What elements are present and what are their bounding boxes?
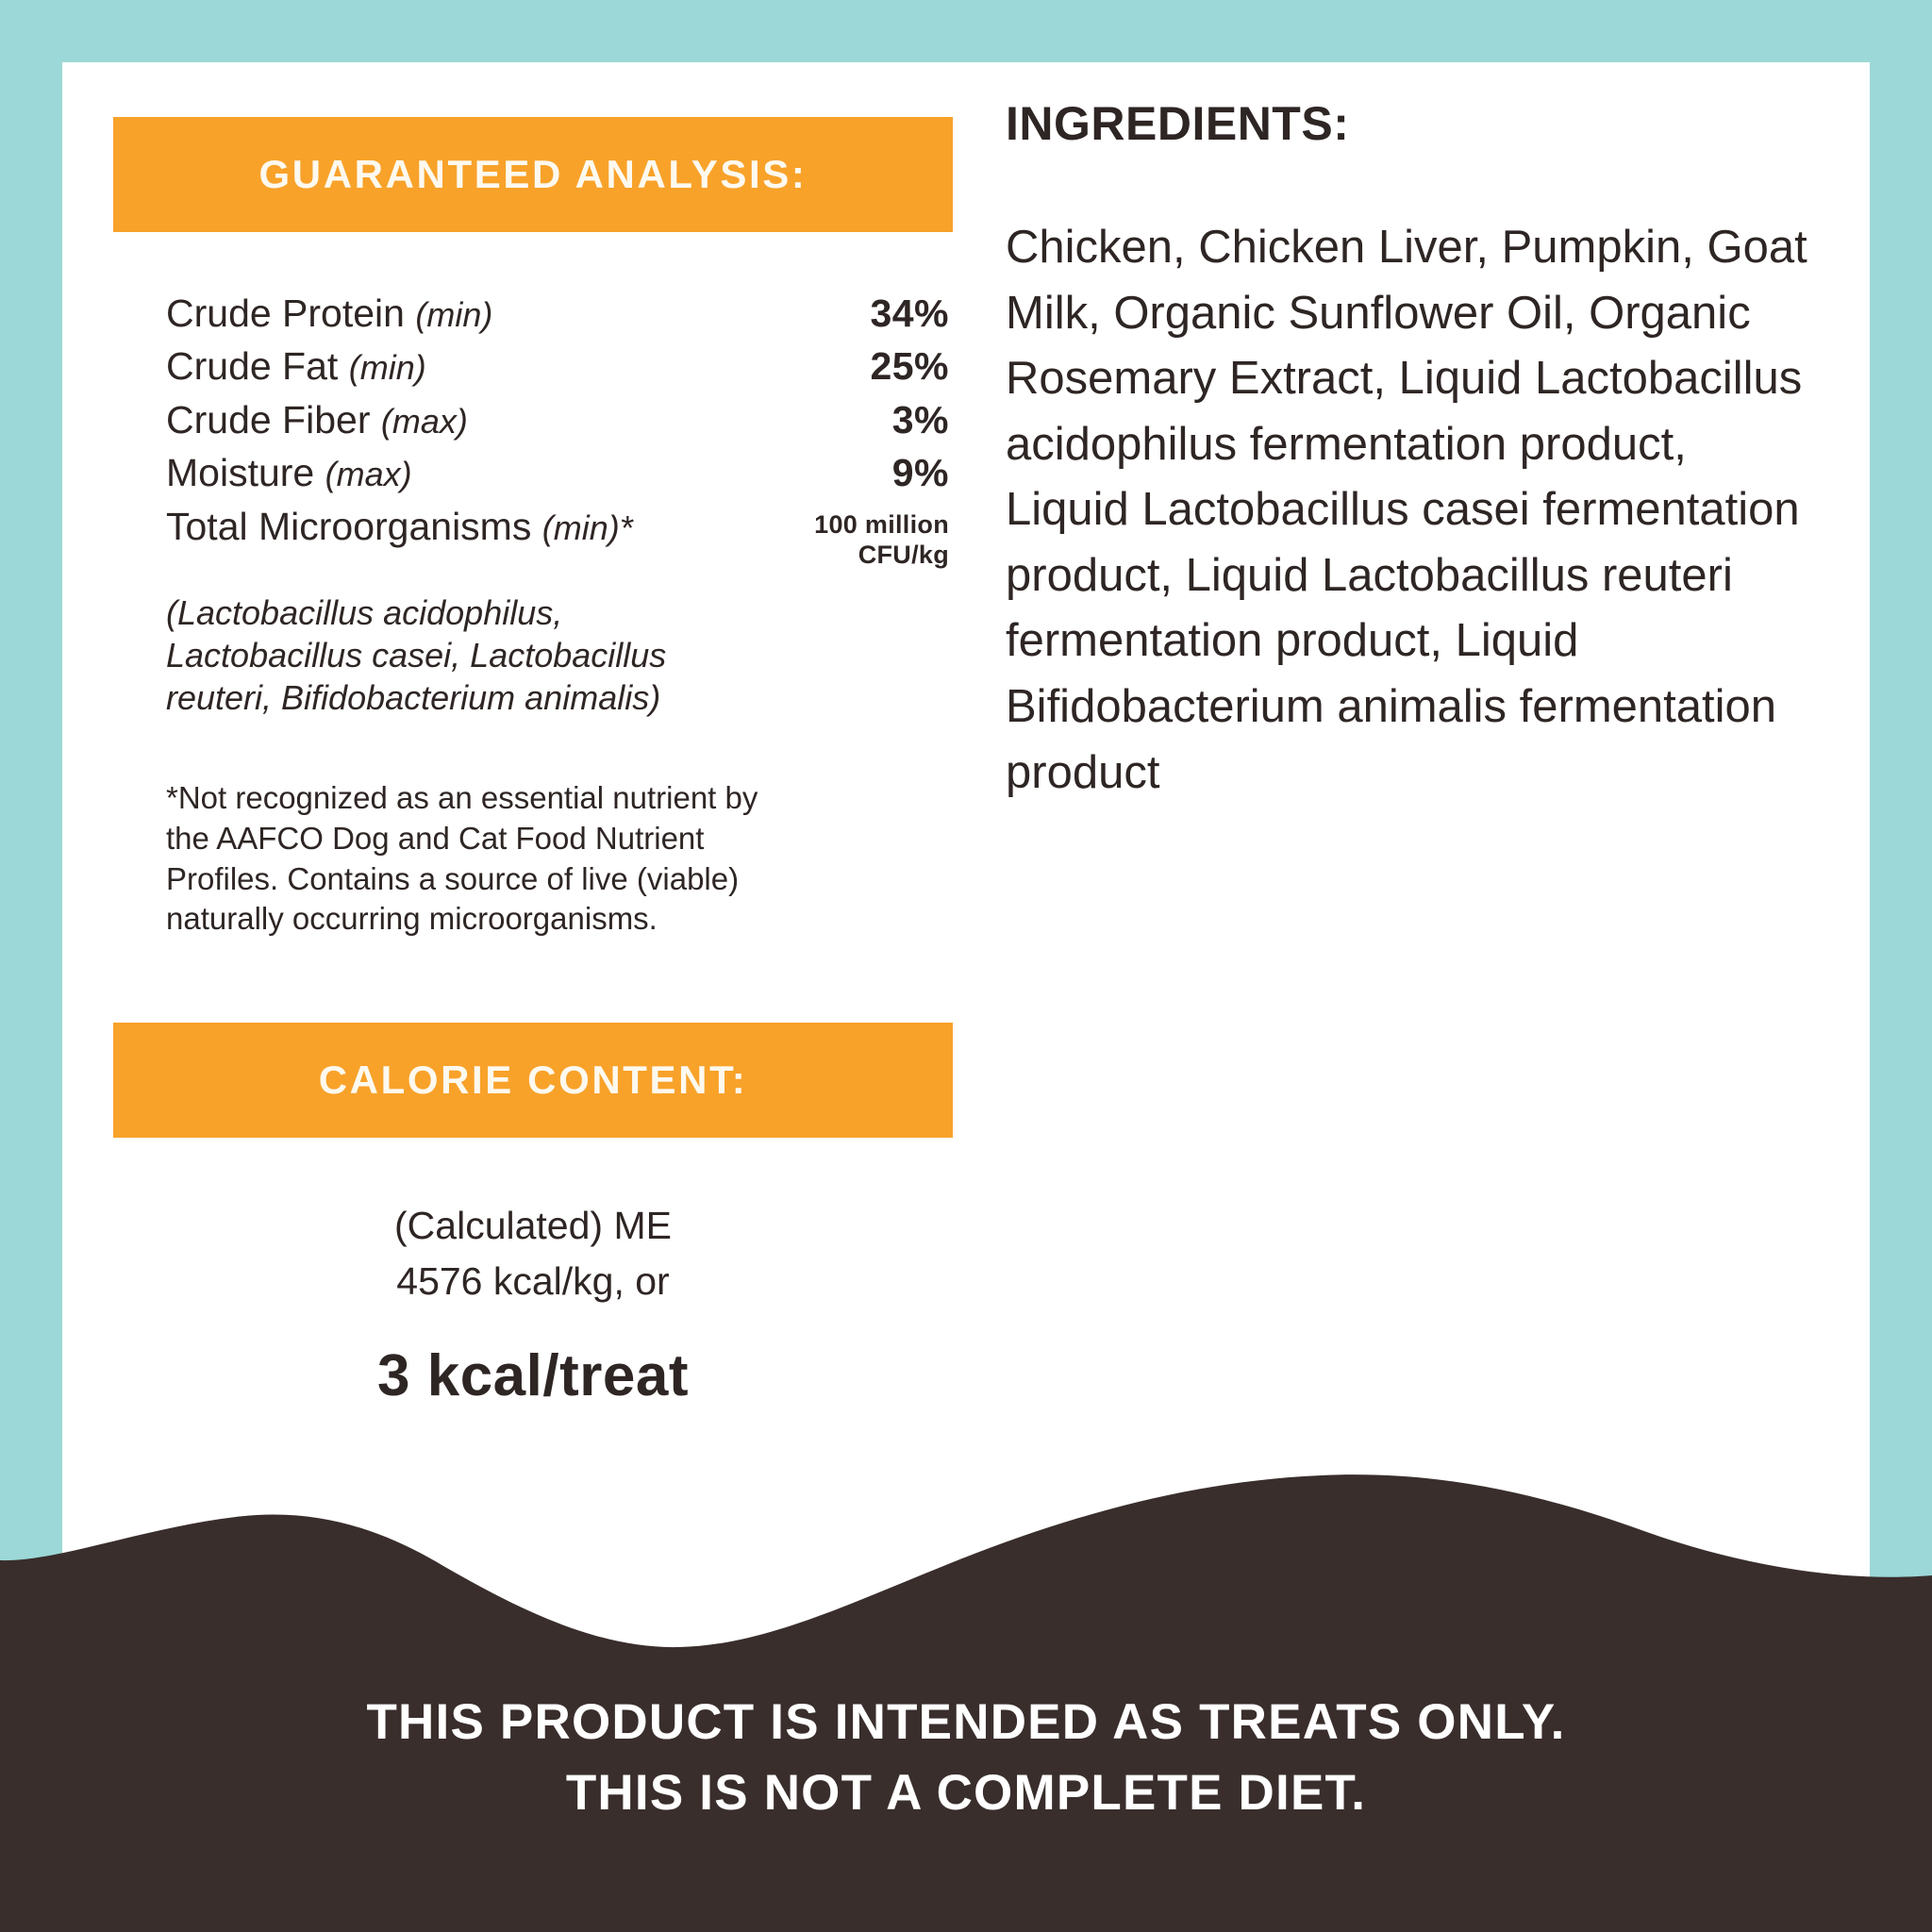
- nutrient-label: Crude Fiber (max): [166, 395, 468, 444]
- nutrient-value: 3%: [892, 395, 949, 444]
- nutrient-qualifier: (min): [349, 348, 426, 387]
- aafco-footnote: *Not recognized as an essential nutrient…: [166, 778, 789, 941]
- nutrient-value: 100 million CFU/kg: [814, 502, 949, 571]
- nutrient-label: Moisture (max): [166, 448, 412, 497]
- nutrient-value: 25%: [870, 341, 949, 391]
- nutrient-qualifier: (max): [325, 455, 412, 493]
- guaranteed-analysis-table: Crude Protein (min) 34% Crude Fat (min) …: [166, 289, 949, 571]
- calorie-content-section: CALORIE CONTENT: (Calculated) ME 4576 kc…: [113, 1023, 962, 1408]
- nutrient-label: Crude Protein (min): [166, 289, 492, 338]
- ingredients-heading: INGREDIENTS:: [1006, 100, 1817, 147]
- nutrient-value: 9%: [892, 448, 949, 497]
- nutrient-label: Crude Fat (min): [166, 341, 426, 391]
- calorie-me-label: (Calculated) ME: [113, 1198, 953, 1253]
- table-row-microorganisms: Total Microorganisms (min)* 100 million …: [166, 502, 949, 571]
- left-column: GUARANTEED ANALYSIS: Crude Protein (min)…: [113, 62, 962, 1408]
- probiotic-strain-list: (Lactobacillus acidophilus, Lactobacillu…: [166, 591, 751, 720]
- ingredients-list: Chicken, Chicken Liver, Pumpkin, Goat Mi…: [1006, 215, 1817, 806]
- table-row: Crude Protein (min) 34%: [166, 289, 949, 338]
- nutrient-qualifier: (min)*: [542, 508, 633, 547]
- calorie-per-kg: 4576 kcal/kg, or: [113, 1254, 953, 1308]
- banner-line-2: THIS IS NOT A COMPLETE DIET.: [0, 1757, 1932, 1828]
- nutrient-value: 34%: [870, 289, 949, 338]
- label-panel: GUARANTEED ANALYSIS: Crude Protein (min)…: [0, 0, 1932, 1932]
- calorie-content-header: CALORIE CONTENT:: [113, 1023, 953, 1138]
- nutrient-label: Total Microorganisms (min)*: [166, 502, 633, 551]
- calorie-content-body: (Calculated) ME 4576 kcal/kg, or 3 kcal/…: [113, 1198, 953, 1408]
- guaranteed-analysis-heading-text: GUARANTEED ANALYSIS:: [259, 155, 808, 194]
- calorie-per-treat: 3 kcal/treat: [113, 1344, 953, 1408]
- nutrient-qualifier: (min): [415, 295, 492, 334]
- table-row: Moisture (max) 9%: [166, 448, 949, 497]
- right-column: INGREDIENTS: Chicken, Chicken Liver, Pum…: [1006, 100, 1817, 806]
- guaranteed-analysis-header: GUARANTEED ANALYSIS:: [113, 117, 953, 232]
- nutrient-qualifier: (max): [381, 402, 468, 441]
- banner-line-1: THIS PRODUCT IS INTENDED AS TREATS ONLY.: [0, 1687, 1932, 1757]
- calorie-content-heading-text: CALORIE CONTENT:: [319, 1060, 748, 1100]
- table-row: Crude Fiber (max) 3%: [166, 395, 949, 444]
- treats-only-banner: THIS PRODUCT IS INTENDED AS TREATS ONLY.…: [0, 1687, 1932, 1829]
- white-content-card: GUARANTEED ANALYSIS: Crude Protein (min)…: [62, 62, 1870, 1870]
- table-row: Crude Fat (min) 25%: [166, 341, 949, 391]
